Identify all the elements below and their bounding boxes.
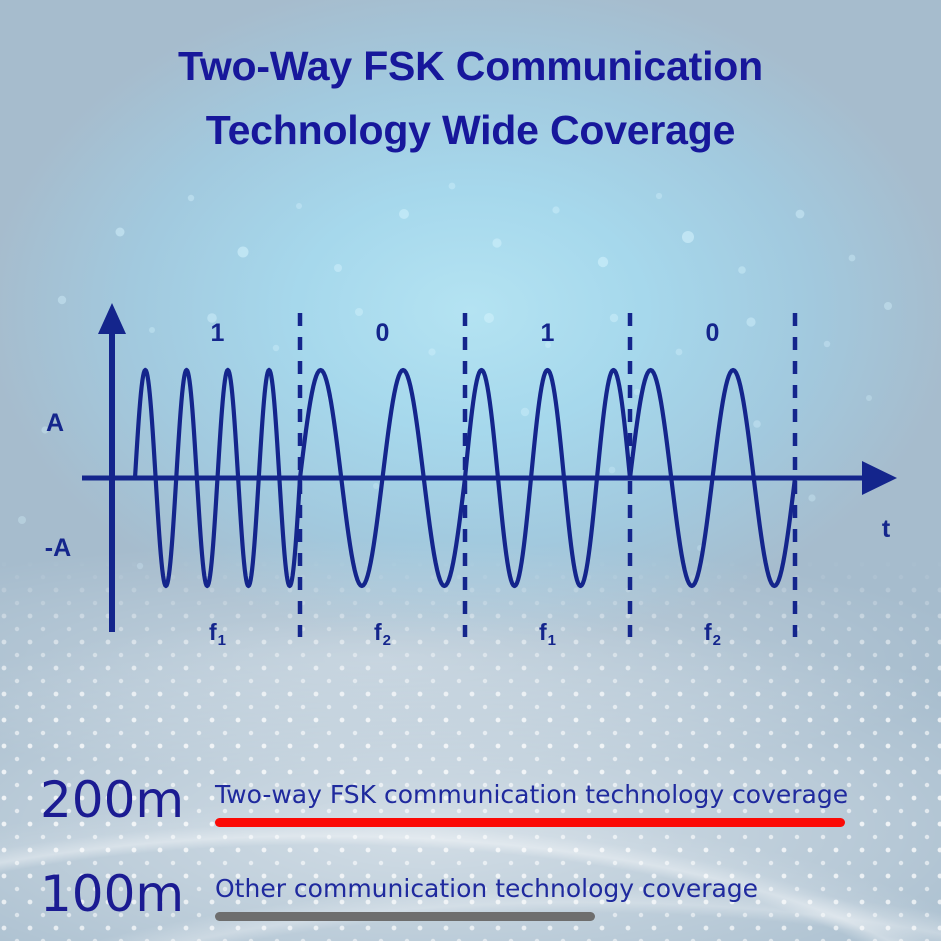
coverage-row-secondary: 100m Other communication technology cove… [0, 866, 941, 936]
x-axis-arrowhead [862, 461, 897, 495]
bit-label-2: 0 [376, 319, 390, 347]
segment-dividers [300, 313, 795, 637]
y-axis-label-negative: -A [45, 534, 71, 562]
carrier-label-3: f1 [539, 619, 556, 649]
coverage-value-200m: 200m [40, 772, 220, 828]
coverage-bar-fsk [215, 818, 845, 827]
carrier-label-4: f2 [704, 619, 721, 649]
bit-label-3: 1 [541, 319, 555, 347]
carrier-label-2: f2 [374, 619, 391, 649]
y-axis-label-positive: A [46, 409, 64, 437]
bit-label-1: 1 [211, 319, 225, 347]
coverage-value-100m: 100m [40, 866, 220, 922]
bit-label-4: 0 [706, 319, 720, 347]
coverage-row-primary: 200m Two-way FSK communication technolog… [0, 772, 941, 842]
x-axis-label: t [882, 515, 891, 543]
coverage-bar-other [215, 912, 595, 921]
y-axis-arrowhead [98, 303, 126, 334]
coverage-label-other: Other communication technology coverage [215, 874, 758, 904]
coverage-label-fsk: Two-way FSK communication technology cov… [215, 780, 848, 810]
poster-canvas: Two-Way FSK Communication Technology Wid… [0, 0, 941, 941]
carrier-label-1: f1 [209, 619, 226, 649]
